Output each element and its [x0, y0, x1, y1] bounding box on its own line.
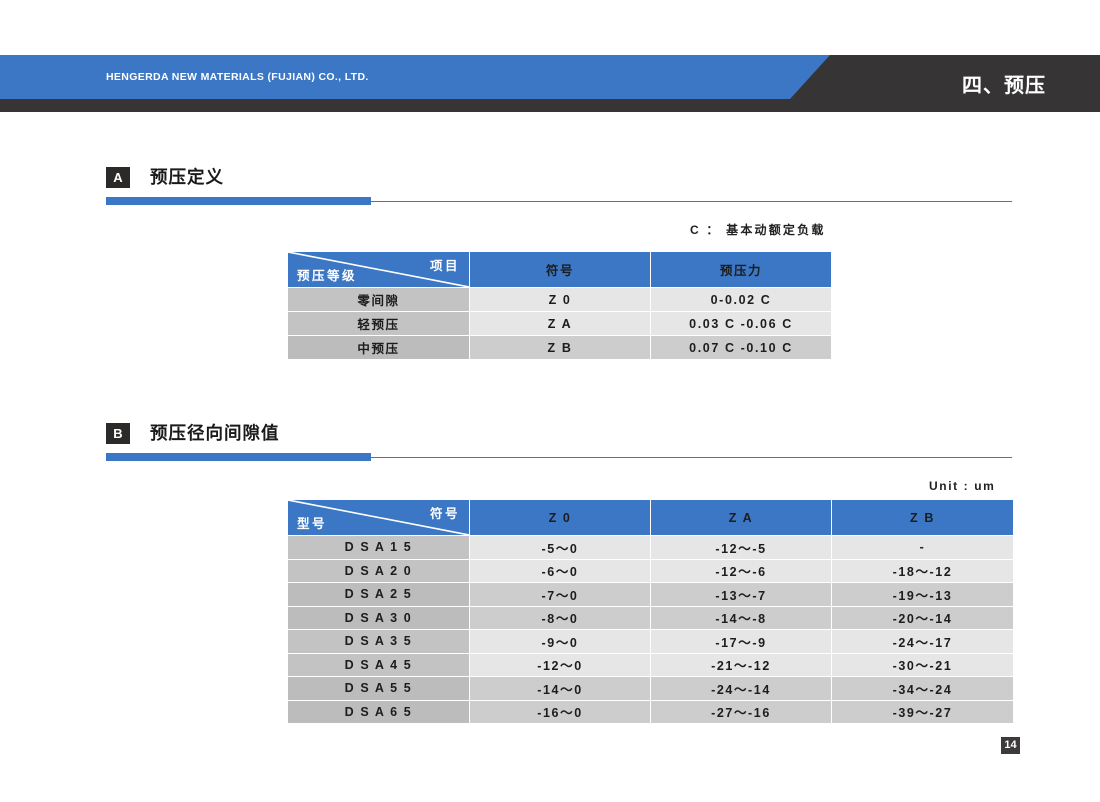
cell-force: 0-0.02 C — [651, 288, 832, 312]
cell-zb: -18～-12 — [832, 559, 1014, 583]
cell-zb: -39～-27 — [832, 700, 1014, 724]
cell-model: D S A 3 0 — [288, 606, 470, 630]
cell-za: -12～-6 — [651, 559, 832, 583]
section-radial-clearance: B 预压径向间隙值 — [106, 420, 1012, 462]
section-b-title: 预压径向间隙值 — [150, 420, 280, 445]
cell-z0: -14～0 — [470, 677, 651, 701]
cell-model: D S A 6 5 — [288, 700, 470, 724]
cell-zb: -19～-13 — [832, 583, 1014, 607]
company-name: HENGERDA NEW MATERIALS (FUJIAN) CO., LTD… — [106, 55, 369, 99]
table-row: 零间隙 Z 0 0-0.02 C — [288, 288, 832, 312]
section-b-rule — [106, 453, 1012, 462]
cell-grade: 中预压 — [288, 336, 470, 360]
table-row: D S A 2 5 -7～0 -13～-7 -19～-13 — [288, 583, 1014, 607]
corner-label-model: 型号 — [297, 513, 327, 532]
cell-model: D S A 3 5 — [288, 630, 470, 654]
table-row: D S A 2 0 -6～0 -12～-6 -18～-12 — [288, 559, 1014, 583]
col-header-za: Z A — [651, 500, 832, 536]
cell-za: -27～-16 — [651, 700, 832, 724]
cell-z0: -6～0 — [470, 559, 651, 583]
cell-symbol: Z A — [470, 312, 651, 336]
col-header-symbol: 符号 — [470, 252, 651, 288]
table-row: 中预压 Z B 0.07 C -0.10 C — [288, 336, 832, 360]
cell-za: -13～-7 — [651, 583, 832, 607]
table-row: D S A 4 5 -12～0 -21～-12 -30～-21 — [288, 653, 1014, 677]
corner-label-item: 项目 — [430, 255, 460, 274]
cell-symbol: Z 0 — [470, 288, 651, 312]
cell-za: -24～-14 — [651, 677, 832, 701]
cell-za: -17～-9 — [651, 630, 832, 654]
table-clearance-corner-cell: 符号 型号 — [288, 500, 470, 536]
table-row: D S A 6 5 -16～0 -27～-16 -39～-27 — [288, 700, 1014, 724]
cell-z0: -8～0 — [470, 606, 651, 630]
table-radial-clearance: 符号 型号 Z 0 Z A Z B D S A 1 5 -5～0 -12～-5 … — [287, 499, 1014, 724]
cell-z0: -12～0 — [470, 653, 651, 677]
cell-model: D S A 5 5 — [288, 677, 470, 701]
cell-model: D S A 4 5 — [288, 653, 470, 677]
cell-grade: 轻预压 — [288, 312, 470, 336]
col-header-force: 预压力 — [651, 252, 832, 288]
cell-z0: -7～0 — [470, 583, 651, 607]
table-preload-corner-cell: 项目 预压等级 — [288, 252, 470, 288]
cell-z0: -16～0 — [470, 700, 651, 724]
section-a-head: A 预压定义 — [106, 164, 1012, 193]
cell-zb: -24～-17 — [832, 630, 1014, 654]
cell-zb: -30～-21 — [832, 653, 1014, 677]
col-header-z0: Z 0 — [470, 500, 651, 536]
table-row: D S A 3 5 -9～0 -17～-9 -24～-17 — [288, 630, 1014, 654]
page-header: HENGERDA NEW MATERIALS (FUJIAN) CO., LTD… — [0, 55, 1100, 112]
cell-za: -14～-8 — [651, 606, 832, 630]
cell-za: -21～-12 — [651, 653, 832, 677]
cell-z0: -5～0 — [470, 536, 651, 560]
section-a-rule — [106, 197, 1012, 206]
section-b-head: B 预压径向间隙值 — [106, 420, 1012, 449]
note-basic-dynamic-load: C ： 基本动额定负载 — [690, 221, 826, 238]
cell-model: D S A 2 5 — [288, 583, 470, 607]
cell-force: 0.03 C -0.06 C — [651, 312, 832, 336]
section-b-rule-thick — [106, 453, 371, 461]
table-row: D S A 1 5 -5～0 -12～-5 - — [288, 536, 1014, 560]
table-preload-definition: 项目 预压等级 符号 预压力 零间隙 Z 0 0-0.02 C 轻预压 Z A … — [287, 251, 832, 360]
table-row: D S A 3 0 -8～0 -14～-8 -20～-14 — [288, 606, 1014, 630]
note-unit: Unit : um — [929, 479, 995, 493]
table-row: 轻预压 Z A 0.03 C -0.06 C — [288, 312, 832, 336]
table-row: D S A 5 5 -14～0 -24～-14 -34～-24 — [288, 677, 1014, 701]
chapter-title: 四、预压 — [962, 55, 1046, 112]
cell-z0: -9～0 — [470, 630, 651, 654]
corner-label-grade: 预压等级 — [297, 265, 357, 284]
section-a-title: 预压定义 — [150, 164, 224, 189]
cell-zb: - — [832, 536, 1014, 560]
page-number-badge: 14 — [1001, 737, 1020, 754]
cell-symbol: Z B — [470, 336, 651, 360]
section-preload-definition: A 预压定义 — [106, 164, 1012, 206]
cell-force: 0.07 C -0.10 C — [651, 336, 832, 360]
section-a-rule-thick — [106, 197, 371, 205]
cell-zb: -34～-24 — [832, 677, 1014, 701]
cell-zb: -20～-14 — [832, 606, 1014, 630]
cell-model: D S A 1 5 — [288, 536, 470, 560]
cell-model: D S A 2 0 — [288, 559, 470, 583]
cell-grade: 零间隙 — [288, 288, 470, 312]
cell-za: -12～-5 — [651, 536, 832, 560]
section-a-badge: A — [106, 167, 130, 188]
col-header-zb: Z B — [832, 500, 1014, 536]
corner-label-symbol: 符号 — [430, 503, 460, 522]
section-b-badge: B — [106, 423, 130, 444]
